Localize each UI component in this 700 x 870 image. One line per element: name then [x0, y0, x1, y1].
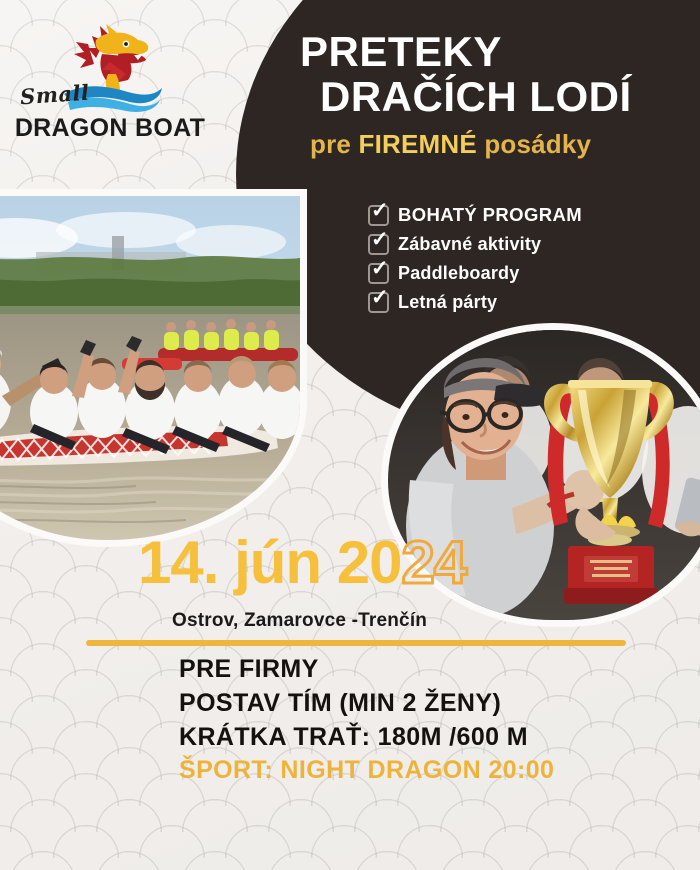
list-item: ✓ Paddleboardy: [368, 261, 582, 285]
info-line-pre-firmy: PRE FIRMY: [179, 653, 554, 687]
info-line-sport-night-dragon: ŠPORT: NIGHT DRAGON 20:00: [179, 754, 554, 788]
feature-checklist: ✓ BOHATÝ PROGRAM ✓ Zábavné aktivity ✓ Pa…: [368, 203, 582, 319]
checkbox-checked-icon: ✓: [368, 205, 389, 226]
dragon-boat-team-paddling-photo: [0, 196, 300, 540]
event-location: Ostrov, Zamarovce -Trenčín: [172, 610, 427, 632]
brand-logo[interactable]: Small DRAGON BOAT: [12, 22, 208, 162]
info-line-postav-tim: POSTAV TÍM (MIN 2 ŽENY): [179, 687, 554, 721]
headline-line-1: PRETEKY: [300, 30, 690, 75]
logo-main-word: DRAGON BOAT: [12, 114, 208, 143]
checkbox-checked-icon: ✓: [368, 234, 389, 255]
checklist-label: BOHATÝ PROGRAM: [398, 204, 582, 226]
checkbox-checked-icon: ✓: [368, 263, 389, 284]
event-date-year-overlap: 24: [401, 529, 466, 596]
list-item: ✓ Zábavné aktivity: [368, 232, 582, 256]
poster-canvas: Small DRAGON BOAT PRETEKY DRAČÍCH LODÍ p…: [0, 0, 700, 870]
list-item: ✓ BOHATÝ PROGRAM: [368, 203, 582, 227]
subtitle-suffix: posádky: [477, 129, 591, 159]
checkbox-checked-icon: ✓: [368, 292, 389, 313]
checklist-label: Paddleboardy: [398, 263, 519, 284]
subtitle-prefix: pre: [310, 129, 358, 159]
event-date: 14. jún 2024: [138, 533, 466, 593]
list-item: ✓ Letná párty: [368, 290, 582, 314]
headline-line-2: DRAČÍCH LODÍ: [300, 75, 690, 120]
checklist-label: Zábavné aktivity: [398, 234, 541, 255]
checklist-label: Letná párty: [398, 292, 497, 313]
headline-block: PRETEKY DRAČÍCH LODÍ pre FIREMNÉ posádky: [300, 30, 690, 160]
logo-script-word: Small: [19, 80, 90, 110]
subtitle-highlight: FIREMNÉ: [358, 129, 476, 159]
yellow-divider-line: [86, 640, 626, 646]
event-date-plain: 14. jún 20: [138, 529, 401, 596]
event-info-block: PRE FIRMY POSTAV TÍM (MIN 2 ŽENY) KRÁTKA…: [179, 653, 554, 788]
headline-subtitle: pre FIREMNÉ posádky: [300, 129, 690, 160]
info-line-kratka-trat: KRÁTKA TRAŤ: 180M /600 M: [179, 721, 554, 755]
